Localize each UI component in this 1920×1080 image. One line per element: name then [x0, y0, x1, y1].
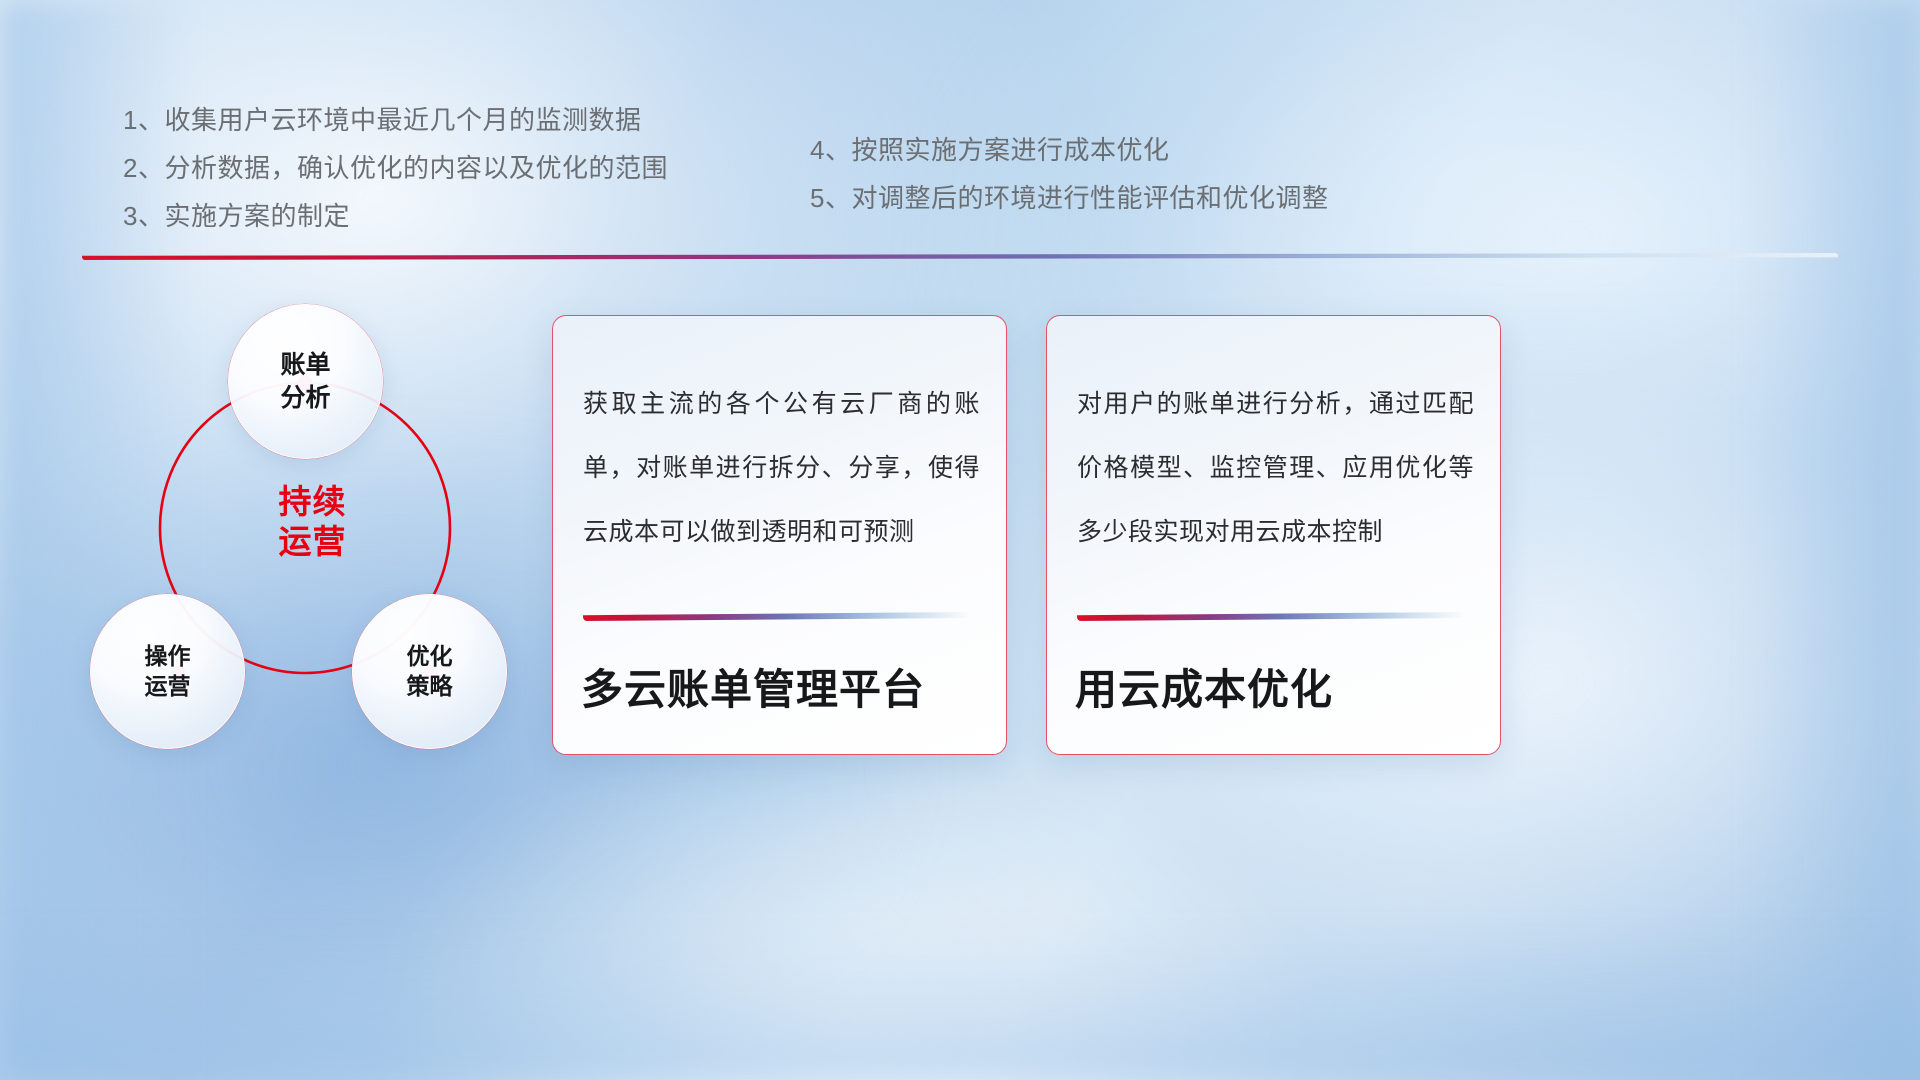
- venn-bubble-label: 账单 分析: [280, 349, 330, 414]
- step-item: 2、分析数据，确认优化的内容以及优化的范围: [123, 144, 668, 192]
- section-divider: [82, 253, 1838, 260]
- card-accent-rule: [583, 612, 971, 621]
- divider-bar: [82, 253, 1838, 260]
- venn-bubble-label: 优化 策略: [407, 642, 453, 702]
- feature-card-multicloud-billing[interactable]: 获取主流的各个公有云厂商的账单，对账单进行拆分、分享，使得云成本可以做到透明和可…: [552, 315, 1007, 755]
- venn-bubble-bill-analysis[interactable]: 账单 分析: [228, 304, 383, 459]
- card-title: 用云成本优化: [1075, 656, 1333, 717]
- background-edge-bottom: [0, 929, 1920, 1080]
- card-body-text: 获取主流的各个公有云厂商的账单，对账单进行拆分、分享，使得云成本可以做到透明和可…: [583, 372, 980, 564]
- steps-list-right: 4、按照实施方案进行成本优化 5、对调整后的环境进行性能评估和优化调整: [810, 126, 1328, 222]
- steps-list-left: 1、收集用户云环境中最近几个月的监测数据 2、分析数据，确认优化的内容以及优化的…: [123, 96, 668, 240]
- step-item: 3、实施方案的制定: [123, 192, 668, 240]
- card-body-text: 对用户的账单进行分析，通过匹配价格模型、监控管理、应用优化等多少段实现对用云成本…: [1077, 372, 1474, 564]
- step-item: 4、按照实施方案进行成本优化: [810, 126, 1328, 174]
- venn-bubble-operations[interactable]: 操作 运营: [90, 594, 245, 749]
- venn-bubble-optimization-strategy[interactable]: 优化 策略: [352, 594, 507, 749]
- venn-bubble-label: 操作 运营: [145, 642, 191, 702]
- step-item: 5、对调整后的环境进行性能评估和优化调整: [810, 174, 1328, 222]
- background-edge-right: [1747, 0, 1920, 1080]
- feature-card-cost-optimization[interactable]: 对用户的账单进行分析，通过匹配价格模型、监控管理、应用优化等多少段实现对用云成本…: [1046, 315, 1501, 755]
- card-accent-rule: [1077, 612, 1465, 621]
- step-item: 1、收集用户云环境中最近几个月的监测数据: [123, 96, 668, 144]
- card-title: 多云账单管理平台: [581, 656, 925, 717]
- venn-diagram: 账单 分析 操作 运营 优化 策略 持续 运营: [80, 288, 550, 768]
